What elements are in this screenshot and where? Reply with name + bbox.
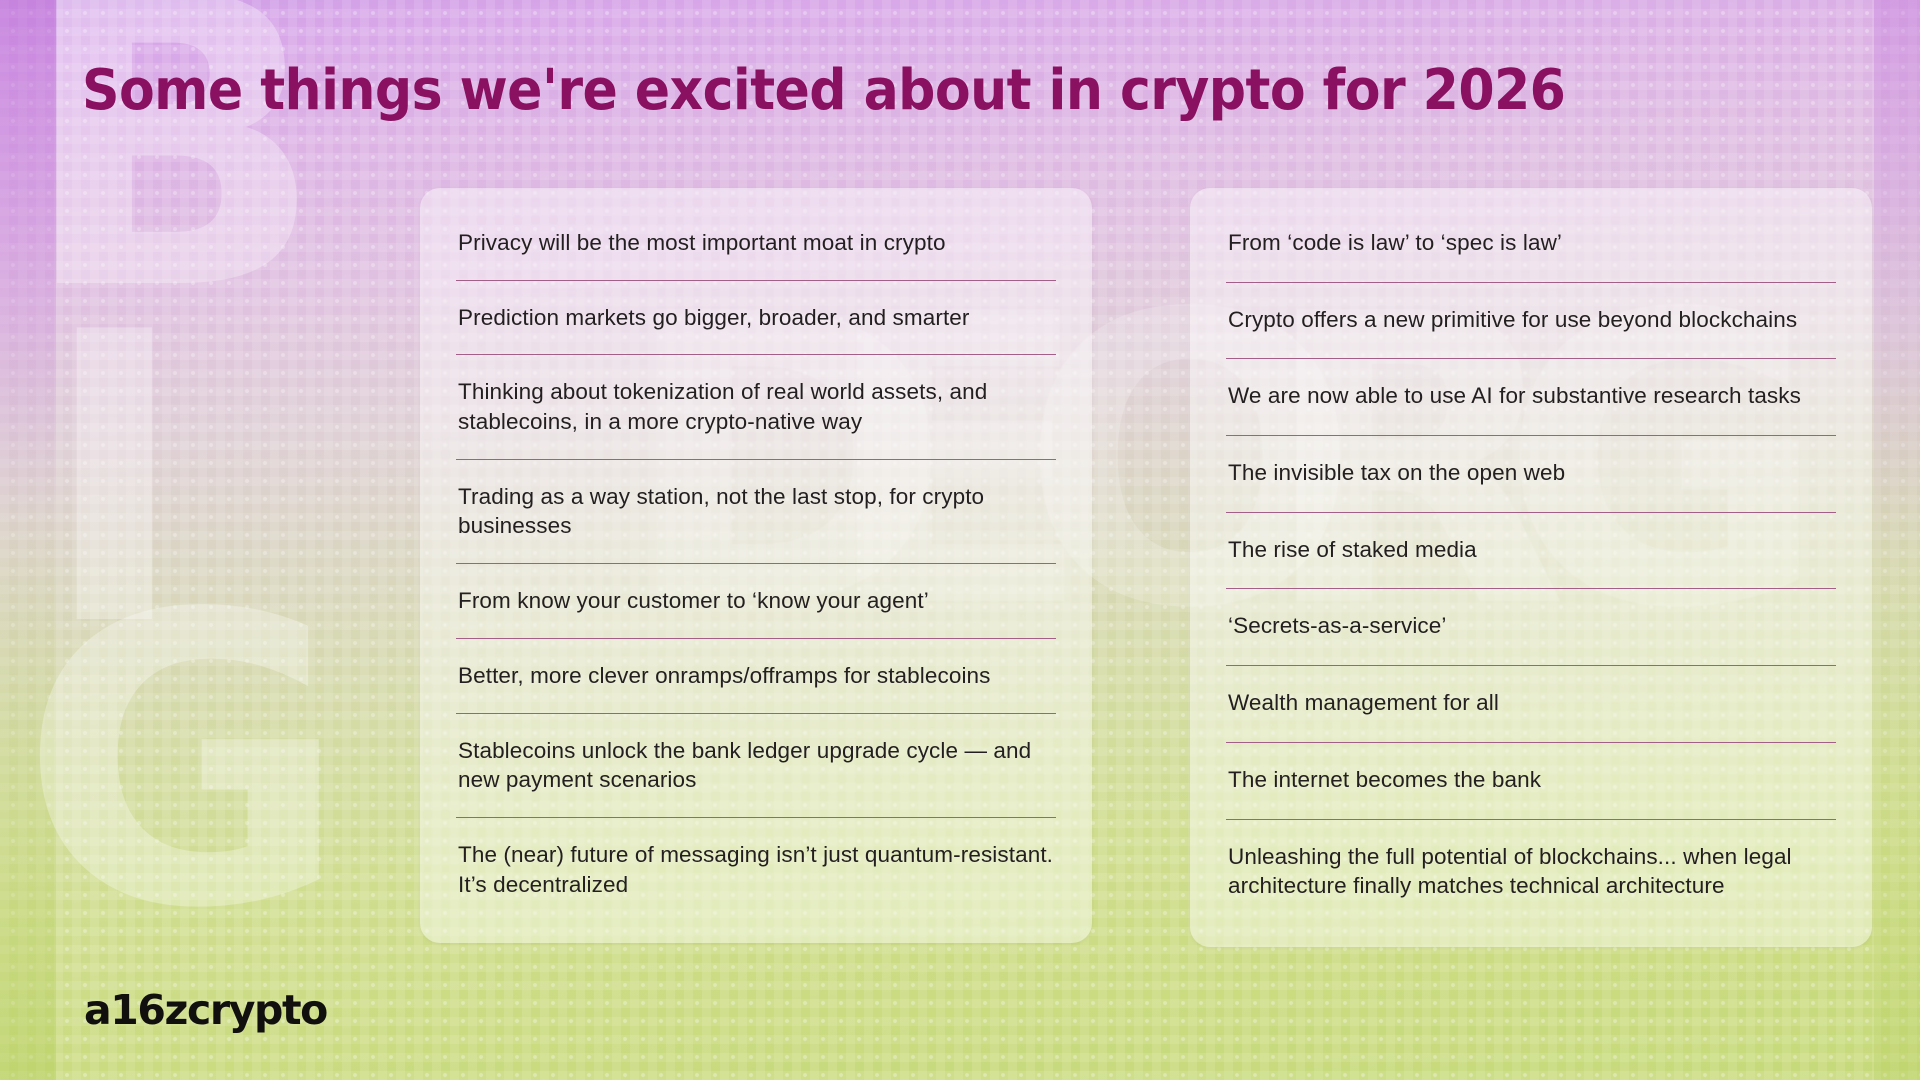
topic-list-item: Privacy will be the most important moat … — [456, 206, 1056, 280]
topic-list-item: The internet becomes the bank — [1226, 742, 1836, 819]
a16zcrypto-logo: a16zcrypto — [84, 986, 327, 1034]
topic-list-item: Better, more clever onramps/offramps for… — [456, 638, 1056, 713]
topic-card-left: Privacy will be the most important moat … — [420, 188, 1092, 943]
topic-list-item: The invisible tax on the open web — [1226, 435, 1836, 512]
topic-list-item: From know your customer to ‘know your ag… — [456, 563, 1056, 638]
topic-list-item: The (near) future of messaging isn’t jus… — [456, 817, 1056, 921]
topic-card-group: Privacy will be the most important moat … — [420, 188, 1872, 947]
topic-list-item: The rise of staked media — [1226, 512, 1836, 589]
topic-list-item: ‘Secrets-as-a-service’ — [1226, 588, 1836, 665]
topic-list-item: Unleashing the full potential of blockch… — [1226, 819, 1836, 925]
topic-card-right: From ‘code is law’ to ‘spec is law’Crypt… — [1190, 188, 1872, 947]
page-title: Some things we're excited about in crypt… — [82, 58, 1719, 123]
topic-list-item: Thinking about tokenization of real worl… — [456, 354, 1056, 458]
topic-list-item: We are now able to use AI for substantiv… — [1226, 358, 1836, 435]
topic-list-item: Trading as a way station, not the last s… — [456, 459, 1056, 563]
topic-list-item: From ‘code is law’ to ‘spec is law’ — [1226, 206, 1836, 282]
topic-list-item: Prediction markets go bigger, broader, a… — [456, 280, 1056, 355]
topic-list-item: Wealth management for all — [1226, 665, 1836, 742]
topic-list-item: Stablecoins unlock the bank ledger upgra… — [456, 713, 1056, 817]
topic-list-item: Crypto offers a new primitive for use be… — [1226, 282, 1836, 359]
